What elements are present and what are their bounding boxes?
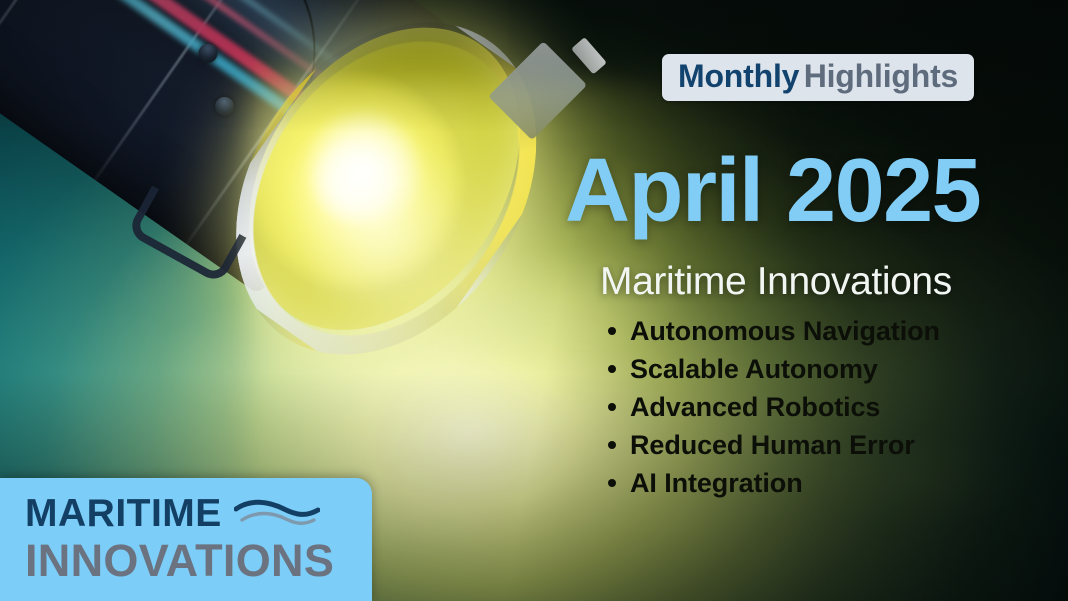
list-item: Scalable Autonomy [630, 356, 940, 383]
page-subtitle: Maritime Innovations [600, 262, 952, 301]
badge-text-soft: Highlights [804, 58, 958, 94]
badge-text-strong: Monthly [678, 58, 799, 94]
brand-logo-panel: MARITIME INNOVATIONS [0, 478, 372, 601]
logo-text-maritime: MARITIME [25, 494, 222, 533]
list-item: AI Integration [630, 470, 940, 497]
highlights-list: Autonomous Navigation Scalable Autonomy … [600, 318, 940, 508]
logo-primary-row: MARITIME [25, 494, 320, 533]
logo-text-innovations: INNOVATIONS [25, 538, 334, 583]
wave-swoosh-icon [234, 497, 320, 531]
page-title: April 2025 [565, 146, 980, 236]
list-item: Reduced Human Error [630, 432, 940, 459]
list-item: Autonomous Navigation [630, 318, 940, 345]
list-item: Advanced Robotics [630, 394, 940, 421]
monthly-highlights-badge: Monthly Highlights [662, 54, 974, 101]
slide-canvas: Monthly Highlights April 2025 Maritime I… [0, 0, 1068, 601]
